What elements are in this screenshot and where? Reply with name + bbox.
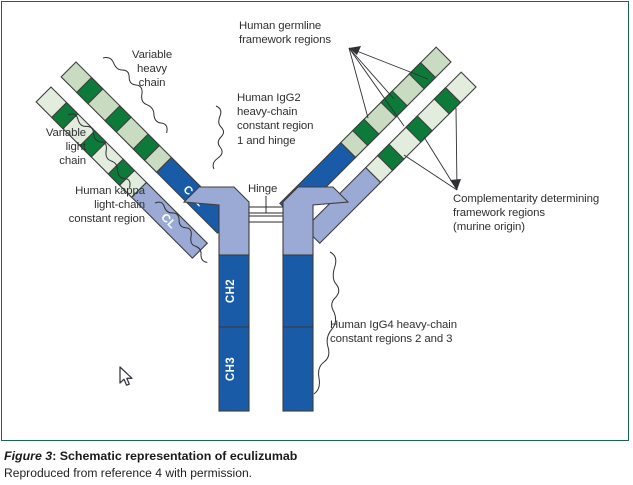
label-igg4-constant-regions: Human IgG4 heavy-chain constant regions … [330,318,505,346]
label-hinge: Hinge [248,182,290,196]
right-ch3-domain [283,327,313,411]
mouse-cursor-icon [119,366,135,388]
caption-title: : Schematic representation of eculizumab [52,449,297,463]
ch3-label: CH3 [225,357,237,381]
label-kappa-constant-region: Human kappa light-chain constant region [10,184,145,227]
brace-igg2-hinge [213,106,223,169]
caption-title-line: Figure 3: Schematic representation of ec… [4,448,624,465]
figure-number: Figure 3 [4,449,52,463]
figure-number-word: Figure 3 [4,449,52,463]
hinge-connector-lower [249,216,283,222]
ch2-label: CH2 [225,279,237,303]
label-variable-heavy-chain: Variable heavy chain [112,48,192,91]
caption-credit: Reproduced from reference 4 with permiss… [4,465,624,482]
label-igg2-heavy-chain-constant: Human IgG2 heavy-chain constant region 1… [237,91,347,148]
label-germline-framework-regions: Human germline framework regions [239,19,359,47]
label-cdr-murine-origin: Complementarity determining framework re… [453,192,629,235]
right-ch2-domain [283,255,313,327]
label-variable-light-chain: Variable light chain [6,126,86,169]
figure-caption: Figure 3: Schematic representation of ec… [4,448,624,481]
